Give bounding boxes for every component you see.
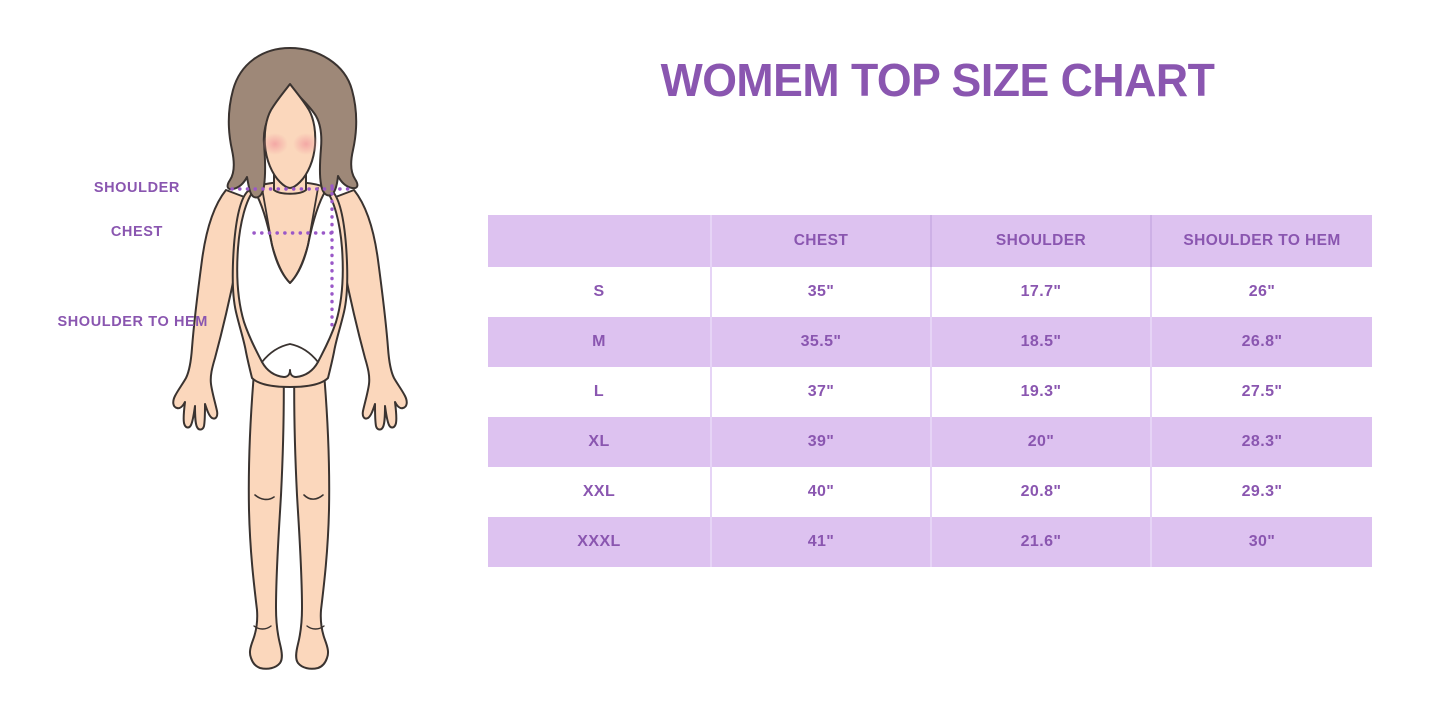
cell-size: M	[488, 317, 711, 367]
cell-size: XXXL	[488, 517, 711, 567]
right-leg	[294, 340, 329, 669]
size-chart-page: SHOULDER CHEST SHOULDER TO HEM WOMEM TOP…	[0, 0, 1445, 723]
table-row: XL 39" 20" 28.3"	[488, 417, 1372, 467]
page-title: WOMEM TOP SIZE CHART	[484, 56, 1391, 104]
cell-shoulder: 21.6"	[931, 517, 1151, 567]
right-cheek-blush	[293, 133, 319, 155]
column-header-shoulder-to-hem: SHOULDER TO HEM	[1151, 215, 1372, 267]
measurement-label-shoulder: SHOULDER	[0, 180, 180, 196]
cell-shoulder: 20.8"	[931, 467, 1151, 517]
table-row: M 35.5" 18.5" 26.8"	[488, 317, 1372, 367]
cell-chest: 37"	[711, 367, 931, 417]
cell-shoulder: 19.3"	[931, 367, 1151, 417]
cell-shoulder-to-hem: 26.8"	[1151, 317, 1372, 367]
measurement-label-chest: CHEST	[0, 224, 163, 240]
cell-shoulder-to-hem: 28.3"	[1151, 417, 1372, 467]
cell-size: S	[488, 267, 711, 317]
cell-chest: 35"	[711, 267, 931, 317]
size-chart-table: CHEST SHOULDER SHOULDER TO HEM S 35" 17.…	[488, 215, 1372, 567]
table-row: L 37" 19.3" 27.5"	[488, 367, 1372, 417]
cell-size: L	[488, 367, 711, 417]
table-row: S 35" 17.7" 26"	[488, 267, 1372, 317]
cell-chest: 40"	[711, 467, 931, 517]
size-chart-table-container: CHEST SHOULDER SHOULDER TO HEM S 35" 17.…	[488, 215, 1372, 567]
cell-shoulder: 17.7"	[931, 267, 1151, 317]
column-header-shoulder: SHOULDER	[931, 215, 1151, 267]
cell-chest: 41"	[711, 517, 931, 567]
left-leg	[249, 340, 284, 669]
cell-chest: 39"	[711, 417, 931, 467]
column-header-size	[488, 215, 711, 267]
table-body: S 35" 17.7" 26" M 35.5" 18.5" 26.8" L 37…	[488, 267, 1372, 567]
cell-size: XL	[488, 417, 711, 467]
table-header: CHEST SHOULDER SHOULDER TO HEM	[488, 215, 1372, 267]
cell-chest: 35.5"	[711, 317, 931, 367]
cell-shoulder-to-hem: 27.5"	[1151, 367, 1372, 417]
cell-shoulder-to-hem: 26"	[1151, 267, 1372, 317]
cell-size: XXL	[488, 467, 711, 517]
body-outline	[173, 48, 406, 669]
measurement-label-shoulder-to-hem: SHOULDER TO HEM	[0, 314, 208, 330]
table-header-row: CHEST SHOULDER SHOULDER TO HEM	[488, 215, 1372, 267]
cell-shoulder-to-hem: 29.3"	[1151, 467, 1372, 517]
female-body-illustration	[150, 40, 430, 690]
cell-shoulder-to-hem: 30"	[1151, 517, 1372, 567]
cell-shoulder: 20"	[931, 417, 1151, 467]
left-cheek-blush	[262, 133, 288, 155]
cell-shoulder: 18.5"	[931, 317, 1151, 367]
table-row: XXL 40" 20.8" 29.3"	[488, 467, 1372, 517]
column-header-chest: CHEST	[711, 215, 931, 267]
illustration-panel: SHOULDER CHEST SHOULDER TO HEM	[0, 0, 470, 723]
table-row: XXXL 41" 21.6" 30"	[488, 517, 1372, 567]
